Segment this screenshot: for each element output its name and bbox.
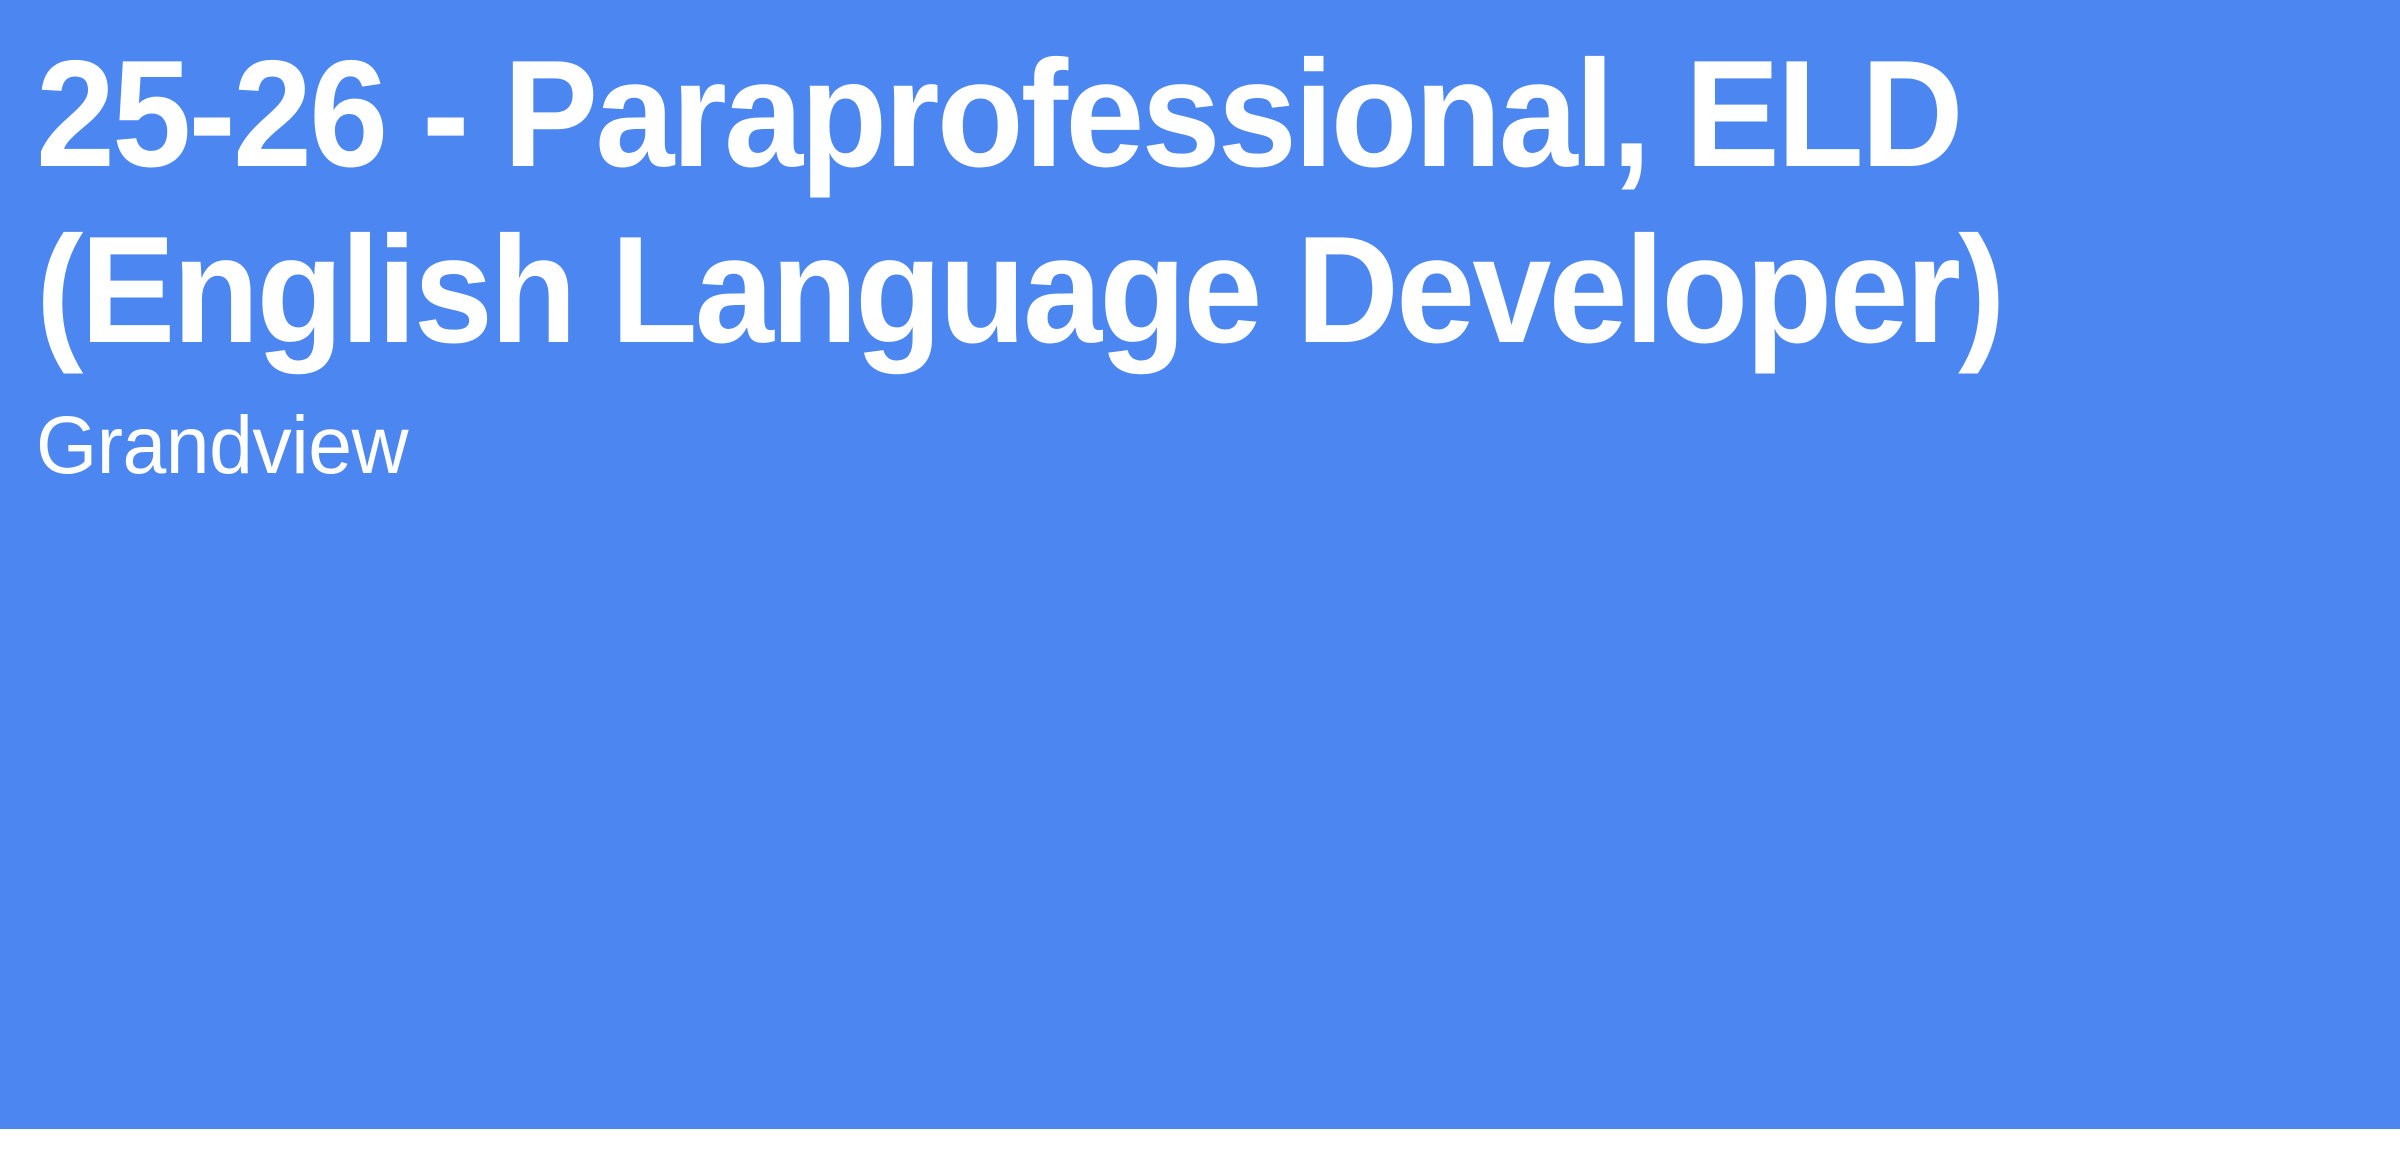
hero-banner: 25-26 - Paraprofessional, ELD (English L…	[0, 0, 2400, 1129]
page-subtitle-location: Grandview	[36, 394, 2267, 498]
job-posting-header-page: 25-26 - Paraprofessional, ELD (English L…	[0, 0, 2400, 1173]
page-title: 25-26 - Paraprofessional, ELD (English L…	[36, 26, 2209, 378]
hero-text-block: 25-26 - Paraprofessional, ELD (English L…	[36, 26, 2360, 498]
page-body-area	[0, 1129, 2400, 1173]
